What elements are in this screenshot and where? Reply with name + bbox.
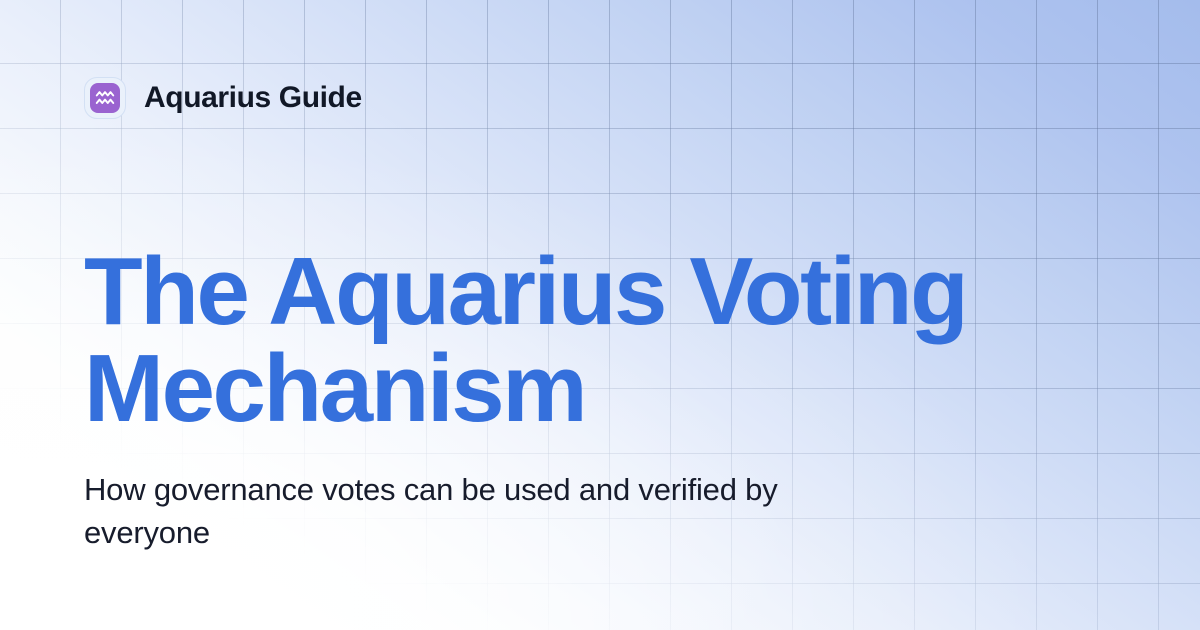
og-card: Aquarius Guide The Aquarius Voting Mecha…: [0, 0, 1200, 630]
brand-logo-badge: [84, 77, 126, 119]
page-title: The Aquarius Voting Mechanism: [84, 243, 1094, 437]
page-subtitle: How governance votes can be used and ver…: [84, 468, 804, 554]
aquarius-waves-icon: [90, 83, 120, 113]
brand-lockup: Aquarius Guide: [84, 77, 362, 119]
card-content: Aquarius Guide The Aquarius Voting Mecha…: [0, 0, 1200, 630]
brand-name: Aquarius Guide: [144, 83, 362, 113]
